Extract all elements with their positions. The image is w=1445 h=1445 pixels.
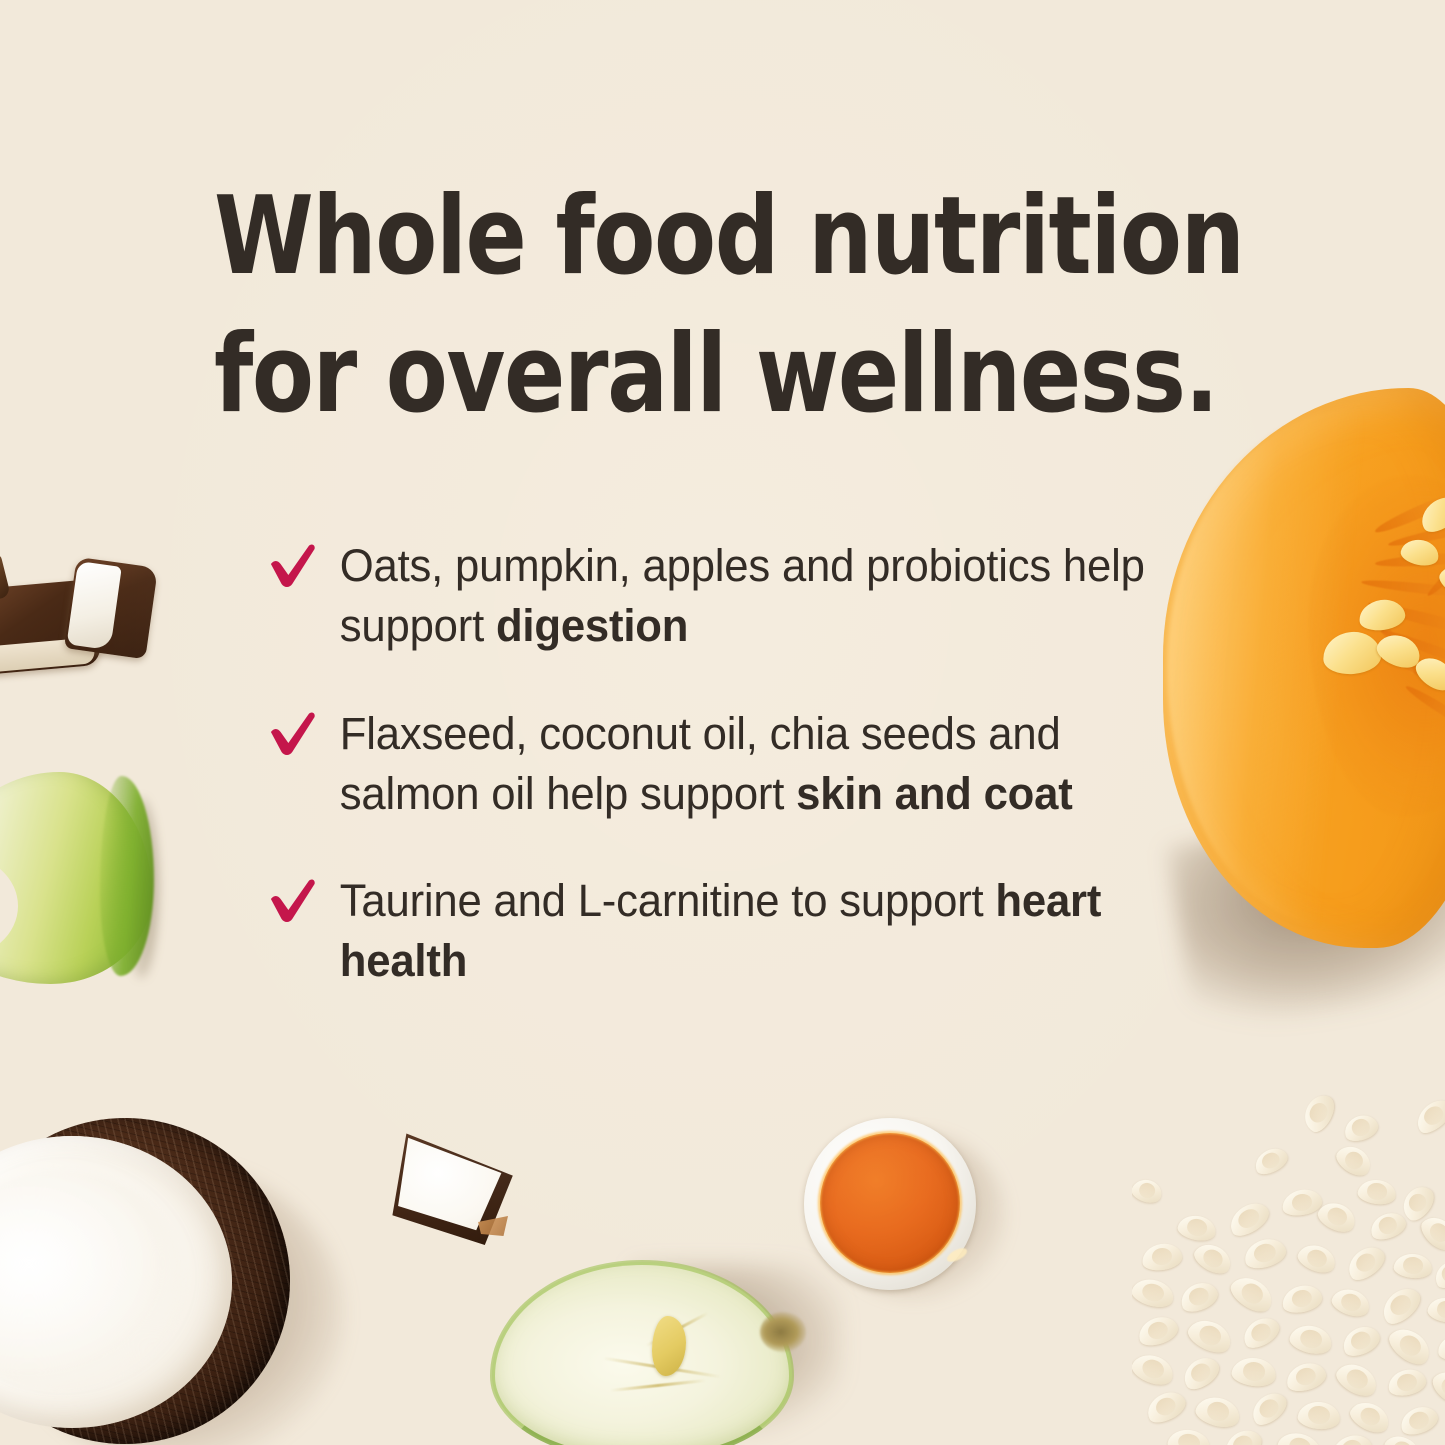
oat-flake bbox=[1384, 1321, 1436, 1370]
list-item-text: Oats, pumpkin, apples and probiotics hel… bbox=[340, 540, 1145, 651]
list-item: Flaxseed, coconut oil, chia seeds and sa… bbox=[268, 704, 1160, 824]
oat-flake bbox=[1386, 1366, 1428, 1398]
oat-flake bbox=[1190, 1238, 1235, 1279]
oat-flake bbox=[1393, 1252, 1433, 1280]
check-icon bbox=[268, 710, 318, 756]
headline-line-1: Whole food nutrition bbox=[214, 168, 1200, 306]
oat-flake bbox=[1166, 1427, 1212, 1445]
oat-flake bbox=[1142, 1387, 1189, 1428]
oat-flake bbox=[1342, 1241, 1390, 1286]
oat-flake bbox=[1367, 1209, 1409, 1244]
check-icon bbox=[268, 542, 318, 588]
oat-flake bbox=[1193, 1392, 1243, 1431]
check-icon bbox=[268, 877, 318, 923]
promo-banner: Whole food nutrition for overall wellnes… bbox=[0, 0, 1445, 1445]
oat-flake bbox=[1346, 1396, 1394, 1438]
oat-flake bbox=[1132, 1176, 1165, 1206]
oat-flake bbox=[1332, 1140, 1376, 1181]
oat-flake bbox=[1411, 1094, 1445, 1138]
oat-flake bbox=[1287, 1321, 1334, 1357]
rolled-oats-image bbox=[1132, 1094, 1445, 1445]
oat-flake bbox=[1341, 1111, 1381, 1144]
oat-flake bbox=[1184, 1314, 1236, 1358]
list-item-label: Flaxseed, coconut oil, chia seeds and sa… bbox=[340, 704, 1161, 824]
oat-flake bbox=[1428, 1365, 1445, 1408]
page-title: Whole food nutrition for overall wellnes… bbox=[214, 168, 1200, 444]
oat-flake bbox=[1251, 1144, 1291, 1179]
oat-flake bbox=[1246, 1387, 1291, 1430]
apple-half-image bbox=[492, 1258, 822, 1445]
oat-flake bbox=[1295, 1240, 1340, 1277]
oat-flake bbox=[1275, 1427, 1326, 1445]
list-item-label: Taurine and L-carnitine to support heart… bbox=[340, 871, 1161, 991]
oat-flake bbox=[1220, 1425, 1266, 1445]
list-item-emphasis: skin and coat bbox=[796, 768, 1072, 819]
oat-flake bbox=[1329, 1432, 1374, 1445]
coconut-piece-image bbox=[384, 1126, 524, 1250]
oat-flake bbox=[1297, 1400, 1342, 1431]
oat-flake bbox=[1178, 1352, 1224, 1395]
oat-flake bbox=[1176, 1212, 1218, 1243]
list-item: Oats, pumpkin, apples and probiotics hel… bbox=[268, 536, 1160, 656]
oat-flake bbox=[1437, 1334, 1445, 1361]
oat-flake bbox=[1376, 1282, 1426, 1330]
list-item-label: Oats, pumpkin, apples and probiotics hel… bbox=[340, 536, 1161, 656]
oat-flake bbox=[1430, 1255, 1445, 1292]
list-item-emphasis: digestion bbox=[496, 600, 688, 651]
oat-flake bbox=[1280, 1282, 1325, 1316]
oat-flake bbox=[1226, 1270, 1278, 1318]
benefits-list: Oats, pumpkin, apples and probiotics hel… bbox=[268, 536, 1188, 991]
oat-flake bbox=[1230, 1355, 1277, 1389]
oat-flake bbox=[1177, 1278, 1222, 1316]
apple-wedge-image bbox=[0, 772, 152, 984]
headline-line-2: for overall wellness. bbox=[214, 306, 1200, 444]
apple-stem-well bbox=[760, 1312, 806, 1352]
oat-flake bbox=[1241, 1235, 1289, 1273]
oat-flake bbox=[1132, 1275, 1177, 1312]
oat-flake bbox=[1338, 1321, 1383, 1360]
coconut-half-image bbox=[0, 1118, 320, 1445]
ramekin-inner-rim bbox=[818, 1131, 962, 1275]
oat-flake bbox=[1329, 1284, 1373, 1320]
coconut-chunks-image bbox=[0, 556, 158, 686]
pumpkin-half-image bbox=[1163, 388, 1445, 998]
coconut-chunk bbox=[64, 557, 158, 660]
oat-flake bbox=[1299, 1094, 1340, 1136]
oat-flake bbox=[1135, 1312, 1181, 1349]
list-item-text: Taurine and L-carnitine to support bbox=[340, 875, 996, 926]
oat-flake bbox=[1332, 1357, 1382, 1401]
oat-flake bbox=[1397, 1402, 1441, 1438]
oat-flake bbox=[1238, 1312, 1283, 1353]
list-item: Taurine and L-carnitine to support heart… bbox=[268, 871, 1160, 991]
oat-flake bbox=[1426, 1295, 1445, 1325]
oat-flake bbox=[1283, 1359, 1329, 1395]
oat-flake bbox=[1357, 1177, 1398, 1206]
oat-flake bbox=[1224, 1197, 1273, 1241]
oat-flake bbox=[1140, 1241, 1183, 1272]
oat-flake bbox=[1132, 1349, 1178, 1390]
